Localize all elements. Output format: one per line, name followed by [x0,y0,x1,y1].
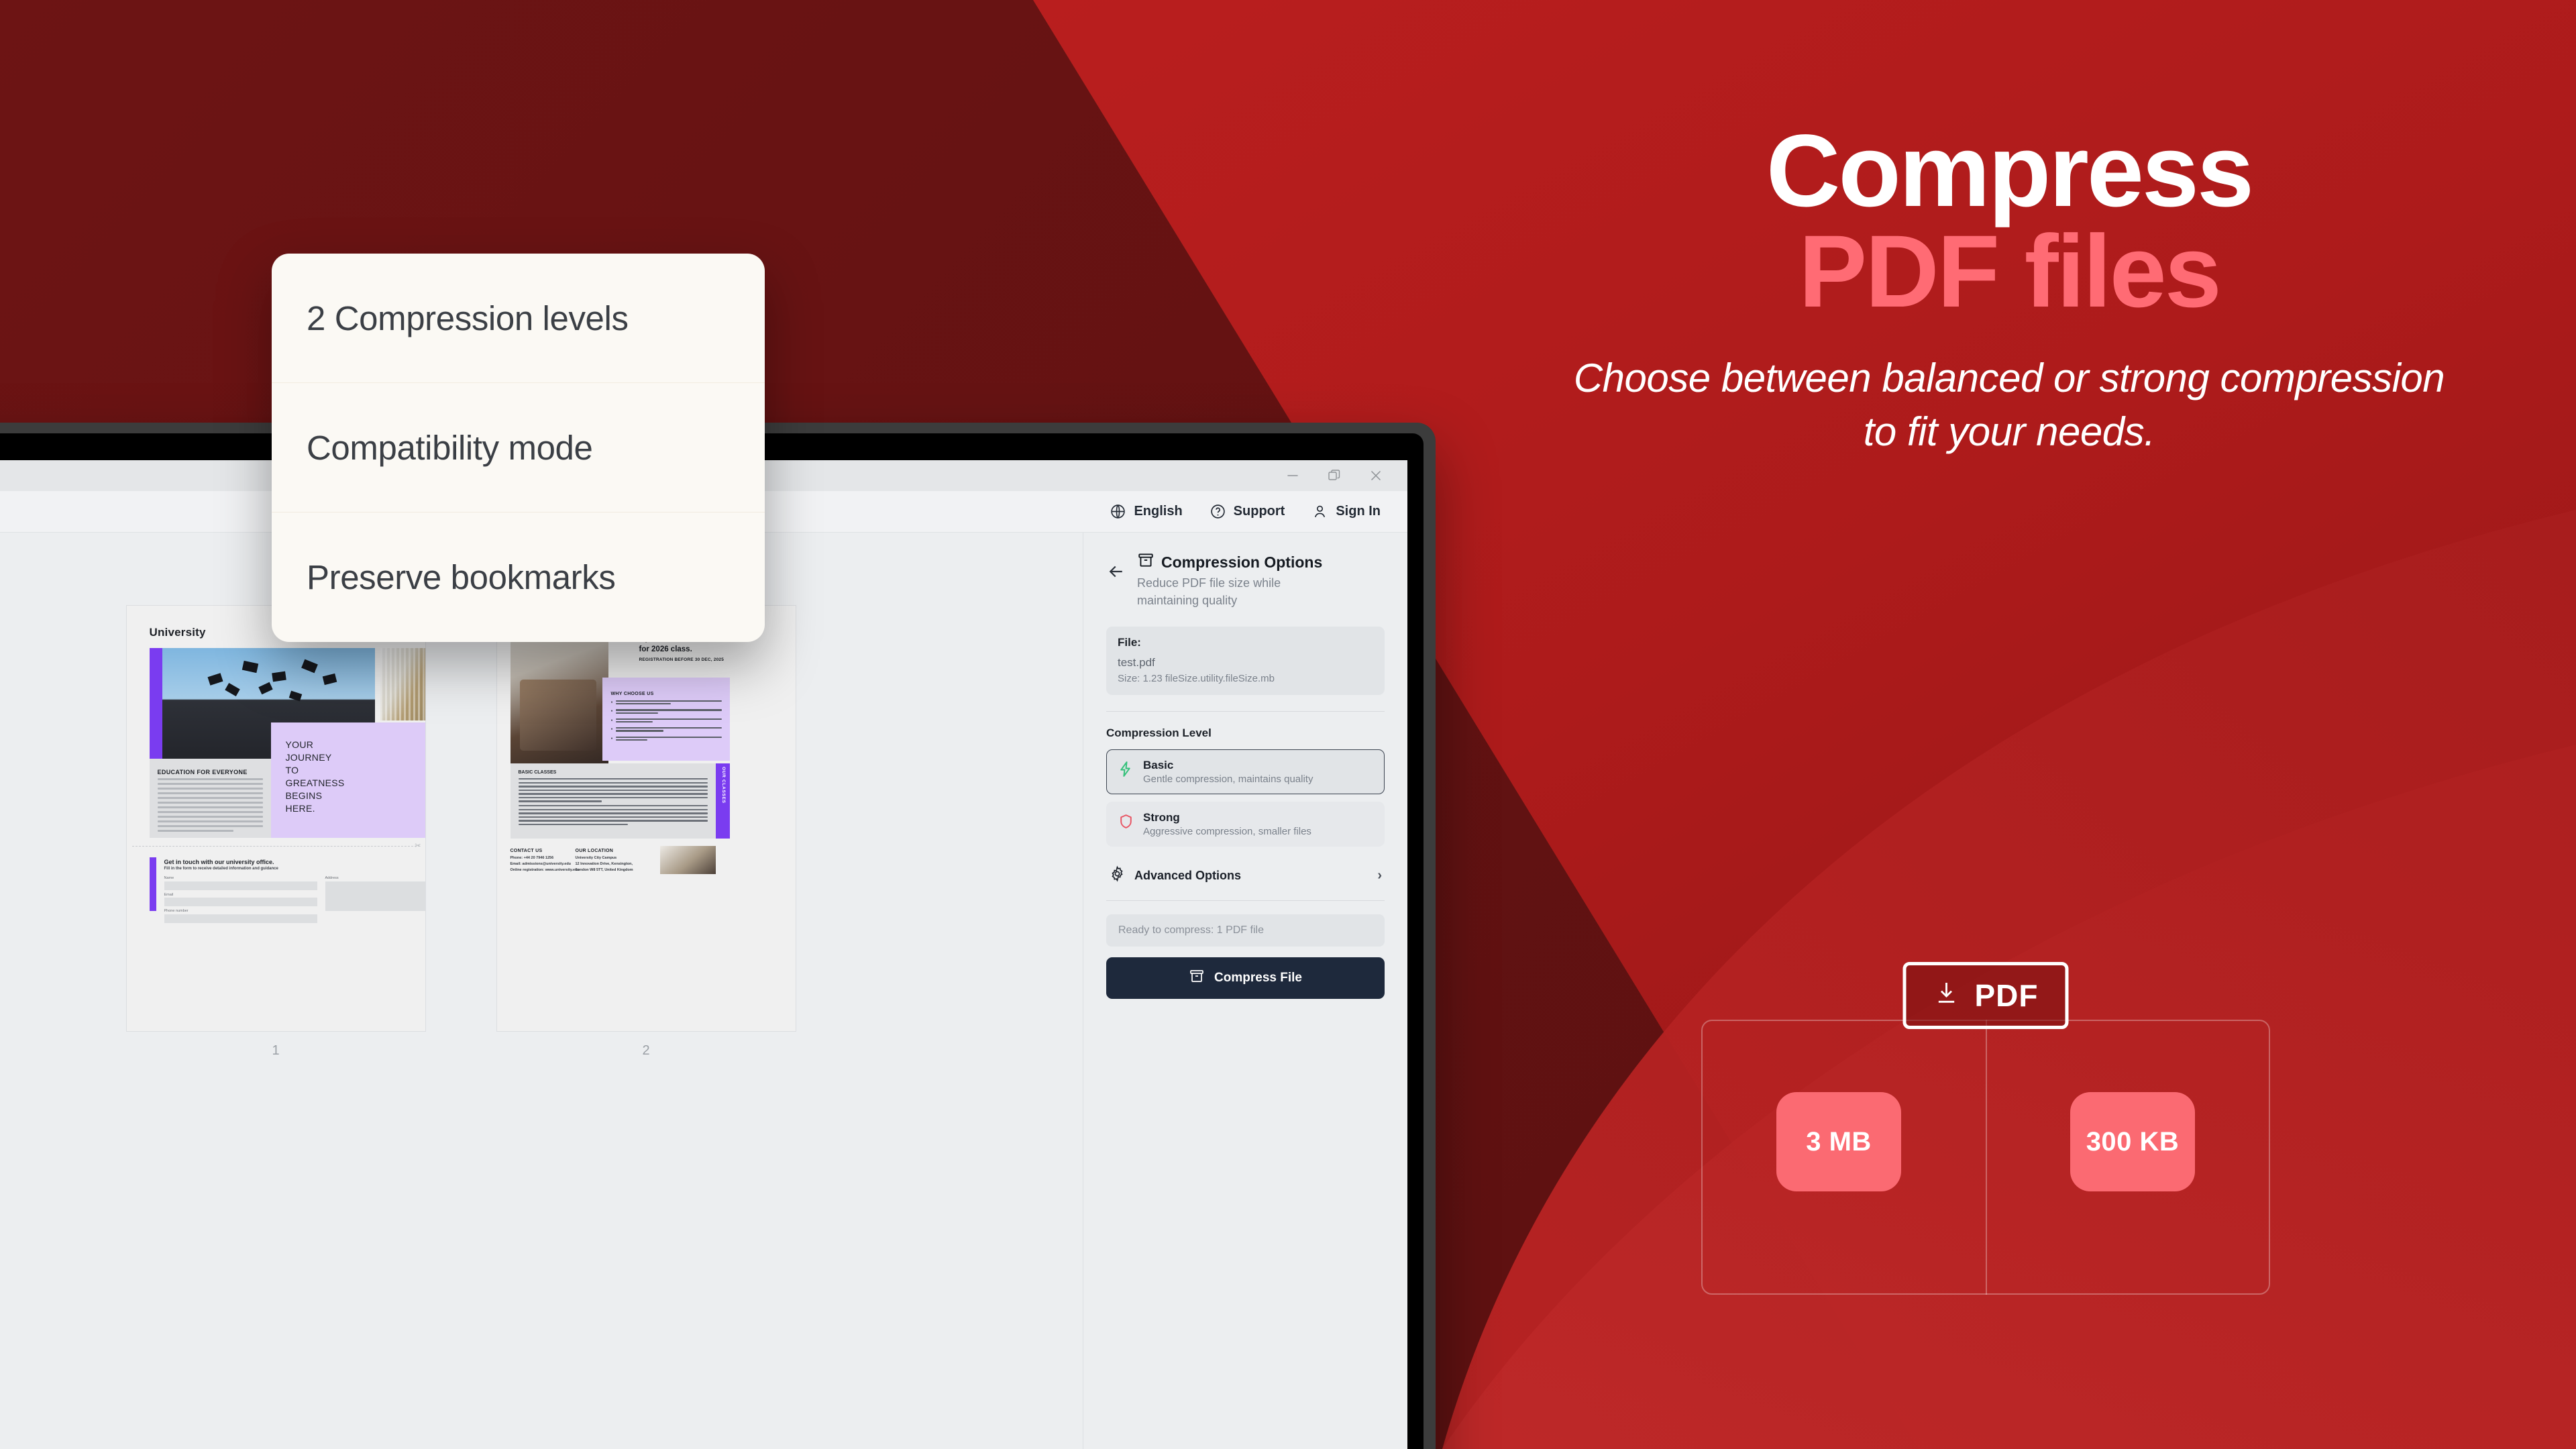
compression-level-label: Compression Level [1106,727,1385,740]
compress-file-button[interactable]: Compress File [1106,957,1385,999]
page-thumbnail-1[interactable]: University www.university.edu [126,605,426,1059]
promo-panel: Compress PDF files Choose between balanc… [1442,0,2576,1449]
promo-subtitle: Choose between balanced or strong compre… [1573,352,2445,459]
file-name: test.pdf [1118,656,1373,669]
advanced-options-label: Advanced Options [1134,869,1241,883]
page1-field-label-address: Address [325,876,426,880]
page2-contact-line-3: Online registration: www.university.edu [511,868,580,872]
strong-title: Strong [1143,811,1311,824]
page1-field-label-name: Name [164,876,317,880]
question-circle-icon [1210,503,1226,520]
divider [1106,711,1385,712]
sidebar-title: Compression Options [1161,553,1322,572]
sidebar-subtitle: Reduce PDF file size while maintaining q… [1137,575,1308,609]
page1-field-phone[interactable] [164,914,317,923]
page1-field-name[interactable] [164,881,317,890]
page1-body-text [158,778,263,835]
page2-contact-line-1: Phone: +44 20 7946 1256 [511,856,580,860]
page1-brand: University [150,626,206,639]
feature-highlight-card: 2 Compression levels Compatibility mode … [272,254,765,642]
page-thumbnail-2[interactable]: Open admissionfor 2026 class. REGISTRATI… [496,605,796,1059]
restore-icon[interactable] [1313,460,1355,491]
page1-contact-form: Get in touch with our university office.… [150,857,426,911]
compression-option-strong[interactable]: Strong Aggressive compression, smaller f… [1106,802,1385,847]
nav-support[interactable]: Support [1210,503,1285,520]
students-photo [511,621,608,775]
page1-cut-divider [132,846,420,847]
close-icon[interactable] [1355,460,1397,491]
page2-classes-paragraph-1 [519,778,708,804]
chevron-right-icon: › [1377,868,1382,883]
page2-location-line-1: University City Campus [576,856,633,860]
page2-contact-line-2: Email: admissions@university.edu [511,862,580,866]
page2-contact-block: CONTACT US Phone: +44 20 7946 1256 Email… [511,849,580,874]
page1-form-title: Get in touch with our university office. [164,859,274,865]
feature-item-compression-levels[interactable]: 2 Compression levels [272,254,765,383]
feature-item-compatibility-mode[interactable]: Compatibility mode [272,383,765,513]
page-1: University www.university.edu [126,605,426,1032]
compress-file-label: Compress File [1214,971,1302,985]
nav-signin-label: Sign In [1336,504,1381,519]
page-2: Open admissionfor 2026 class. REGISTRATI… [496,605,796,1032]
basic-title: Basic [1143,759,1313,772]
page1-form-accent-bar [150,857,156,911]
user-icon [1311,503,1328,520]
page1-headline-panel: YOURJOURNEYTOGREATNESSBEGINSHERE. [271,722,426,838]
page1-field-address[interactable] [325,881,426,911]
writing-photo [660,846,716,874]
scissors-icon: ✂ [415,841,421,850]
nav-signin[interactable]: Sign In [1311,503,1381,520]
feature-item-preserve-bookmarks[interactable]: Preserve bookmarks [272,513,765,642]
globe-icon [1110,503,1126,520]
lightning-bolt-icon [1118,759,1134,781]
archive-box-icon [1189,968,1205,988]
nav-language-label: English [1134,504,1182,519]
page2-classes-title: BASIC CLASSES [519,770,557,775]
page2-vertical-bar: OUR CLASSES [716,763,730,839]
page2-location-line-3: London W8 5TT, United Kingdom [576,868,633,872]
page2-classes-paragraph-2 [519,805,708,827]
page2-why-bullets: ● ● ● ● ● [611,700,722,745]
minimize-icon[interactable] [1272,460,1313,491]
page2-location-line-2: 12 Innovation Drive, Kensington, [576,862,633,866]
nav-language[interactable]: English [1110,503,1182,520]
archive-box-icon [1137,551,1155,573]
divider-2 [1106,900,1385,901]
compression-option-basic[interactable]: Basic Gentle compression, maintains qual… [1106,749,1385,794]
gear-icon [1109,865,1126,885]
page2-why-title: WHY CHOOSE US [611,692,654,696]
page1-field-label-email: Email [164,893,317,897]
page1-form-subtitle: Fill in the form to receive detailed inf… [164,867,278,871]
page1-section-title: EDUCATION FOR EVERYONE [158,769,248,775]
page1-headline: YOURJOURNEYTOGREATNESSBEGINSHERE. [286,739,345,815]
page-number-1: 1 [272,1043,279,1059]
shield-icon [1118,811,1134,833]
page2-registration: REGISTRATION BEFORE 30 DEC, 2025 [639,657,724,662]
page2-location-title: OUR LOCATION [576,849,633,853]
page-number-2: 2 [642,1043,649,1059]
file-size: Size: 1.23 fileSize.utility.fileSize.mb [1118,673,1373,684]
file-info-box: File: test.pdf Size: 1.23 fileSize.utili… [1106,627,1385,695]
nav-support-label: Support [1234,504,1285,519]
page1-accent-bar [150,648,162,759]
promo-headline: Compress PDF files [1766,121,2252,322]
page2-location-block: OUR LOCATION University City Campus 12 I… [576,849,633,874]
basic-description: Gentle compression, maintains quality [1143,773,1313,785]
compression-options-sidebar: Compression Options Reduce PDF file size… [1083,533,1407,1449]
library-photo [380,648,426,720]
page1-field-email[interactable] [164,898,317,906]
page2-vertical-label: OUR CLASSES [721,767,726,818]
promo-headline-line1: Compress [1766,113,2252,228]
strong-description: Aggressive compression, smaller files [1143,826,1311,837]
promo-headline-line2: PDF files [1799,214,2220,329]
file-label: File: [1118,636,1373,649]
document-preview-canvas[interactable]: University www.university.edu [0,533,1083,1449]
page2-contact-title: CONTACT US [511,849,580,853]
advanced-options-row[interactable]: Advanced Options › [1106,855,1385,896]
page1-field-label-phone: Phone number [164,909,317,913]
status-text: Ready to compress: 1 PDF file [1106,914,1385,947]
arrow-left-icon[interactable] [1106,561,1126,585]
